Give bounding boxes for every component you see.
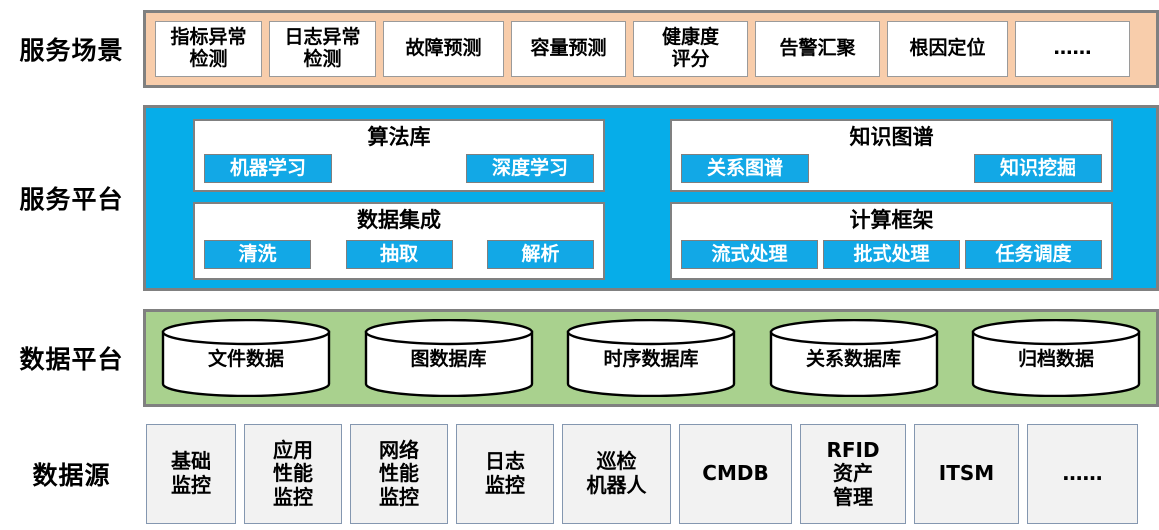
- database-cylinder-row: 文件数据图数据库时序数据库关系数据库归档数据: [160, 322, 1142, 394]
- data-source-chip-more[interactable]: ……: [1027, 424, 1138, 524]
- scenario-chip-log-anomaly-detection[interactable]: 日志异常 检测: [269, 21, 376, 77]
- scenario-chip-more[interactable]: ……: [1015, 21, 1130, 77]
- panel-algorithm-library[interactable]: 算法库 机器学习 深度学习: [193, 119, 605, 192]
- scenario-chip-fault-prediction[interactable]: 故障预测: [383, 21, 504, 77]
- data-platform-band: 文件数据图数据库时序数据库关系数据库归档数据: [143, 309, 1159, 407]
- cylinder-graph-database[interactable]: 图数据库: [363, 319, 535, 397]
- panel-title-knowledge-graph: 知识图谱: [850, 126, 934, 149]
- cylinder-shape: [160, 319, 332, 397]
- architecture-diagram: 服务场景 服务平台 数据平台 数据源 指标异常 检测日志异常 检测故障预测容量预…: [0, 0, 1159, 530]
- data-source-chip-log-monitoring[interactable]: 日志 监控: [456, 424, 554, 524]
- chip-parsing[interactable]: 解析: [487, 240, 594, 269]
- data-source-chip-itsm[interactable]: ITSM: [914, 424, 1019, 524]
- cylinder-shape: [363, 319, 535, 397]
- scenario-chip-metric-anomaly-detection[interactable]: 指标异常 检测: [155, 21, 262, 77]
- chip-extraction[interactable]: 抽取: [346, 240, 453, 269]
- cylinder-timeseries-database[interactable]: 时序数据库: [565, 319, 737, 397]
- panel-title-computing-framework: 计算框架: [850, 209, 934, 232]
- panel-data-integration[interactable]: 数据集成 清洗 抽取 解析: [193, 202, 605, 280]
- row-label-service-platform: 服务平台: [0, 105, 143, 291]
- cylinder-relational-database[interactable]: 关系数据库: [768, 319, 940, 397]
- data-source-chip-network-performance-monitoring[interactable]: 网络 性能 监控: [350, 424, 448, 524]
- service-scenario-band: 指标异常 检测日志异常 检测故障预测容量预测健康度 评分告警汇聚根因定位……: [143, 10, 1159, 88]
- cylinder-shape: [768, 319, 940, 397]
- scenario-chip-health-score[interactable]: 健康度 评分: [633, 21, 748, 77]
- scenario-chip-root-cause-location[interactable]: 根因定位: [887, 21, 1008, 77]
- chip-batch-processing[interactable]: 批式处理: [823, 240, 960, 269]
- chip-row-data-integration: 清洗 抽取 解析: [195, 236, 603, 278]
- data-source-row: 基础 监控应用 性能 监控网络 性能 监控日志 监控巡检 机器人CMDBRFID…: [146, 424, 1159, 524]
- row-label-service-scenario: 服务场景: [0, 10, 143, 88]
- chip-task-scheduling[interactable]: 任务调度: [965, 240, 1102, 269]
- data-source-chip-cmdb[interactable]: CMDB: [679, 424, 792, 524]
- cylinder-shape: [970, 319, 1142, 397]
- cylinder-shape: [565, 319, 737, 397]
- cylinder-archive-data[interactable]: 归档数据: [970, 319, 1142, 397]
- panel-title-algorithm-library: 算法库: [368, 126, 431, 149]
- chip-row-knowledge-graph: 关系图谱 知识挖掘: [672, 153, 1111, 190]
- chip-stream-processing[interactable]: 流式处理: [681, 240, 818, 269]
- scenario-chip-row: 指标异常 检测日志异常 检测故障预测容量预测健康度 评分告警汇聚根因定位……: [155, 21, 1147, 77]
- panel-knowledge-graph[interactable]: 知识图谱 关系图谱 知识挖掘: [670, 119, 1113, 192]
- data-source-chip-rfid-asset-management[interactable]: RFID 资产 管理: [800, 424, 906, 524]
- chip-machine-learning[interactable]: 机器学习: [204, 154, 332, 183]
- scenario-chip-capacity-prediction[interactable]: 容量预测: [511, 21, 626, 77]
- data-source-chip-infrastructure-monitoring[interactable]: 基础 监控: [146, 424, 236, 524]
- chip-relation-graph[interactable]: 关系图谱: [681, 154, 809, 183]
- chip-knowledge-mining[interactable]: 知识挖掘: [974, 154, 1102, 183]
- row-label-data-source: 数据源: [0, 424, 143, 524]
- chip-row-algorithm-library: 机器学习 深度学习: [195, 153, 603, 190]
- chip-row-computing-framework: 流式处理 批式处理 任务调度: [672, 236, 1111, 278]
- scenario-chip-alarm-aggregation[interactable]: 告警汇聚: [755, 21, 880, 77]
- cylinder-file-data[interactable]: 文件数据: [160, 319, 332, 397]
- chip-deep-learning[interactable]: 深度学习: [466, 154, 594, 183]
- row-label-data-platform: 数据平台: [0, 309, 143, 407]
- chip-cleaning[interactable]: 清洗: [204, 240, 311, 269]
- panel-computing-framework[interactable]: 计算框架 流式处理 批式处理 任务调度: [670, 202, 1113, 280]
- data-source-chip-inspection-robot[interactable]: 巡检 机器人: [562, 424, 671, 524]
- service-platform-band: 算法库 机器学习 深度学习 知识图谱 关系图谱 知识挖掘 数据集成 清洗 抽取 …: [143, 105, 1159, 291]
- panel-title-data-integration: 数据集成: [357, 209, 441, 232]
- data-source-chip-application-performance-monitoring[interactable]: 应用 性能 监控: [244, 424, 342, 524]
